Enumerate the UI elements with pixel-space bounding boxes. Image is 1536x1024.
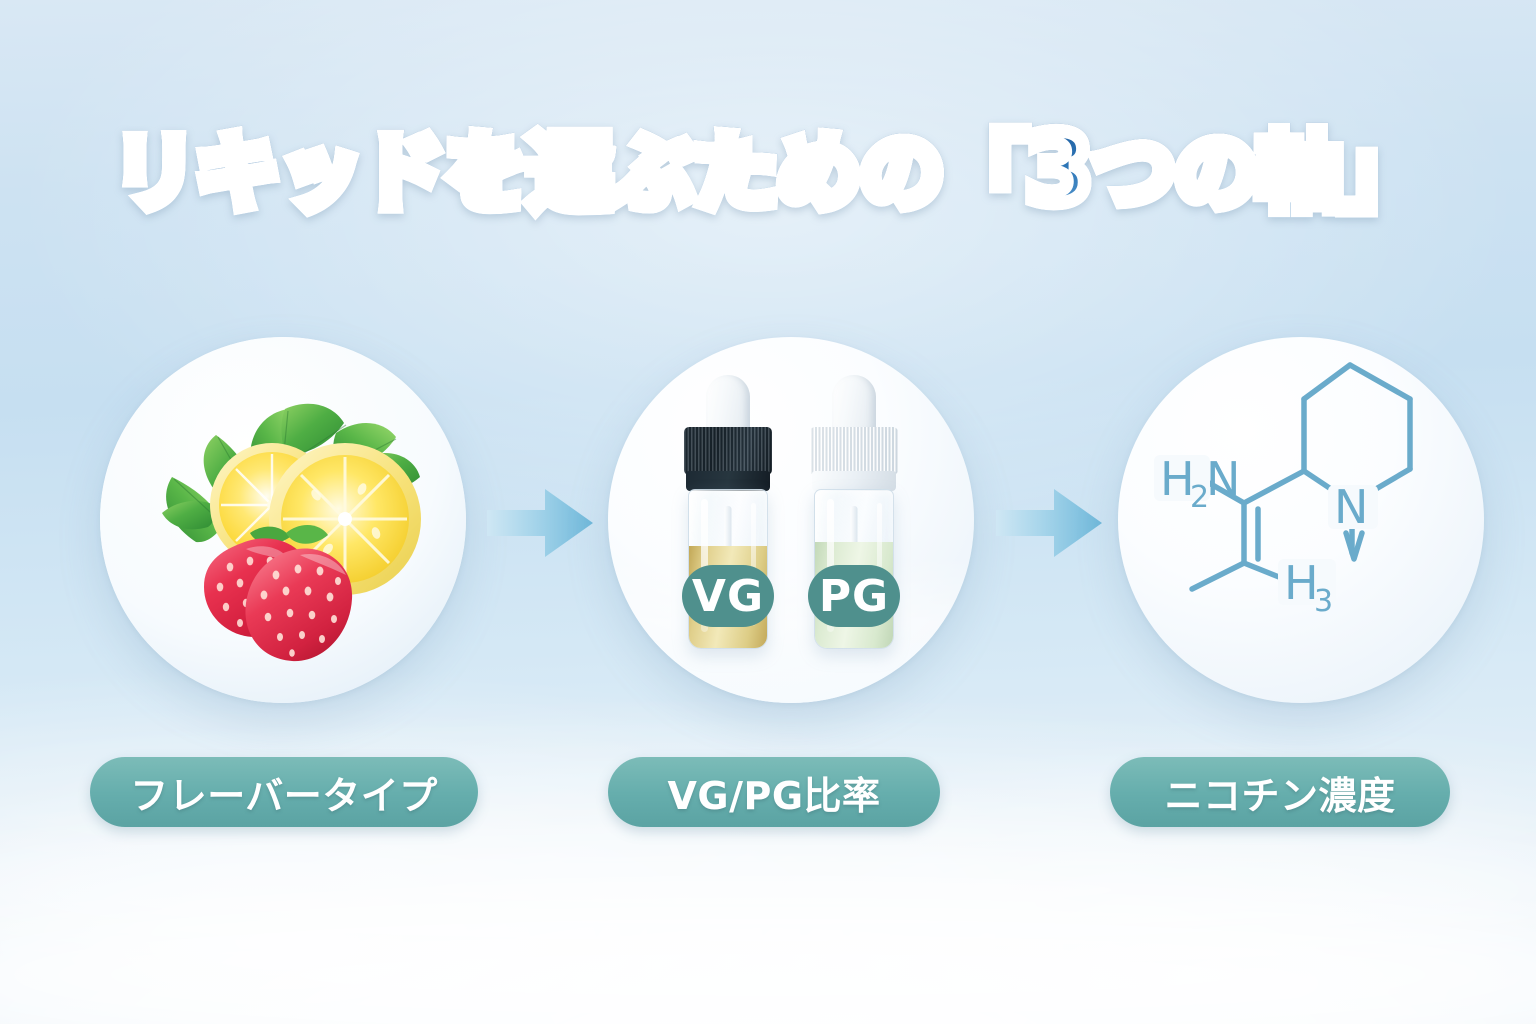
step-1-label-pill[interactable]: フレーバータイプ: [90, 757, 478, 827]
step-1-illustration-circle: [100, 337, 466, 703]
title-block: リキッドを選ぶための「3つの軸」: [0, 118, 1536, 222]
vg-bottle: VG: [668, 375, 788, 655]
flavor-to-vgpg-arrow: [487, 485, 593, 561]
pg-cap-skirt: [812, 471, 896, 491]
pg-bottle: PG: [794, 375, 914, 655]
fruit-photo: [100, 337, 466, 703]
pg-badge: PG: [808, 565, 900, 627]
vg-badge-text: VG: [692, 571, 764, 622]
infographic-canvas: リキッドを選ぶための「3つの軸」: [0, 0, 1536, 1024]
methyl-subscript: 3: [1314, 584, 1333, 619]
mist-band-mid: [0, 830, 1536, 950]
step-2-label-text: VG/PG比率: [667, 765, 880, 820]
vg-bottle-cap: [684, 427, 772, 475]
page-title: リキッドを選ぶための「3つの軸」: [113, 118, 1424, 222]
step-1-label-text: フレーバータイプ: [130, 765, 438, 820]
step-3-label-pill[interactable]: ニコチン濃度: [1110, 757, 1450, 827]
step-2-label-pill[interactable]: VG/PG比率: [608, 757, 940, 827]
amine-n-label: N: [1206, 452, 1240, 506]
step-3-label-text: ニコチン濃度: [1164, 765, 1395, 820]
nicotine-molecule: H 2 N N H 3: [1118, 337, 1484, 703]
page-title-tail: つの軸」: [1091, 124, 1423, 222]
page-title-lead: リキッドを選ぶための「: [113, 124, 1026, 222]
step-2-illustration-circle: VG PG: [608, 337, 974, 703]
vg-badge: VG: [682, 565, 774, 627]
shelf-surface: [608, 557, 974, 703]
arrow-right-icon-2: [996, 485, 1102, 561]
nicotine-structure-icon: H 2 N N H 3: [1118, 337, 1484, 703]
pg-bottle-cap: [810, 427, 898, 475]
vgpg-to-nicotine-arrow: [996, 485, 1102, 561]
ring-nitrogen-label: N: [1334, 480, 1368, 534]
fruit-icon: [100, 337, 466, 703]
arrow-right-icon: [487, 485, 593, 561]
page-title-number: 3: [1026, 113, 1092, 225]
mist-band-lower: [0, 900, 1536, 1024]
vg-cap-skirt: [686, 471, 770, 491]
pg-badge-text: PG: [819, 571, 889, 622]
dropper-bottles-photo: VG PG: [608, 337, 974, 703]
step-3-illustration-circle: H 2 N N H 3: [1118, 337, 1484, 703]
